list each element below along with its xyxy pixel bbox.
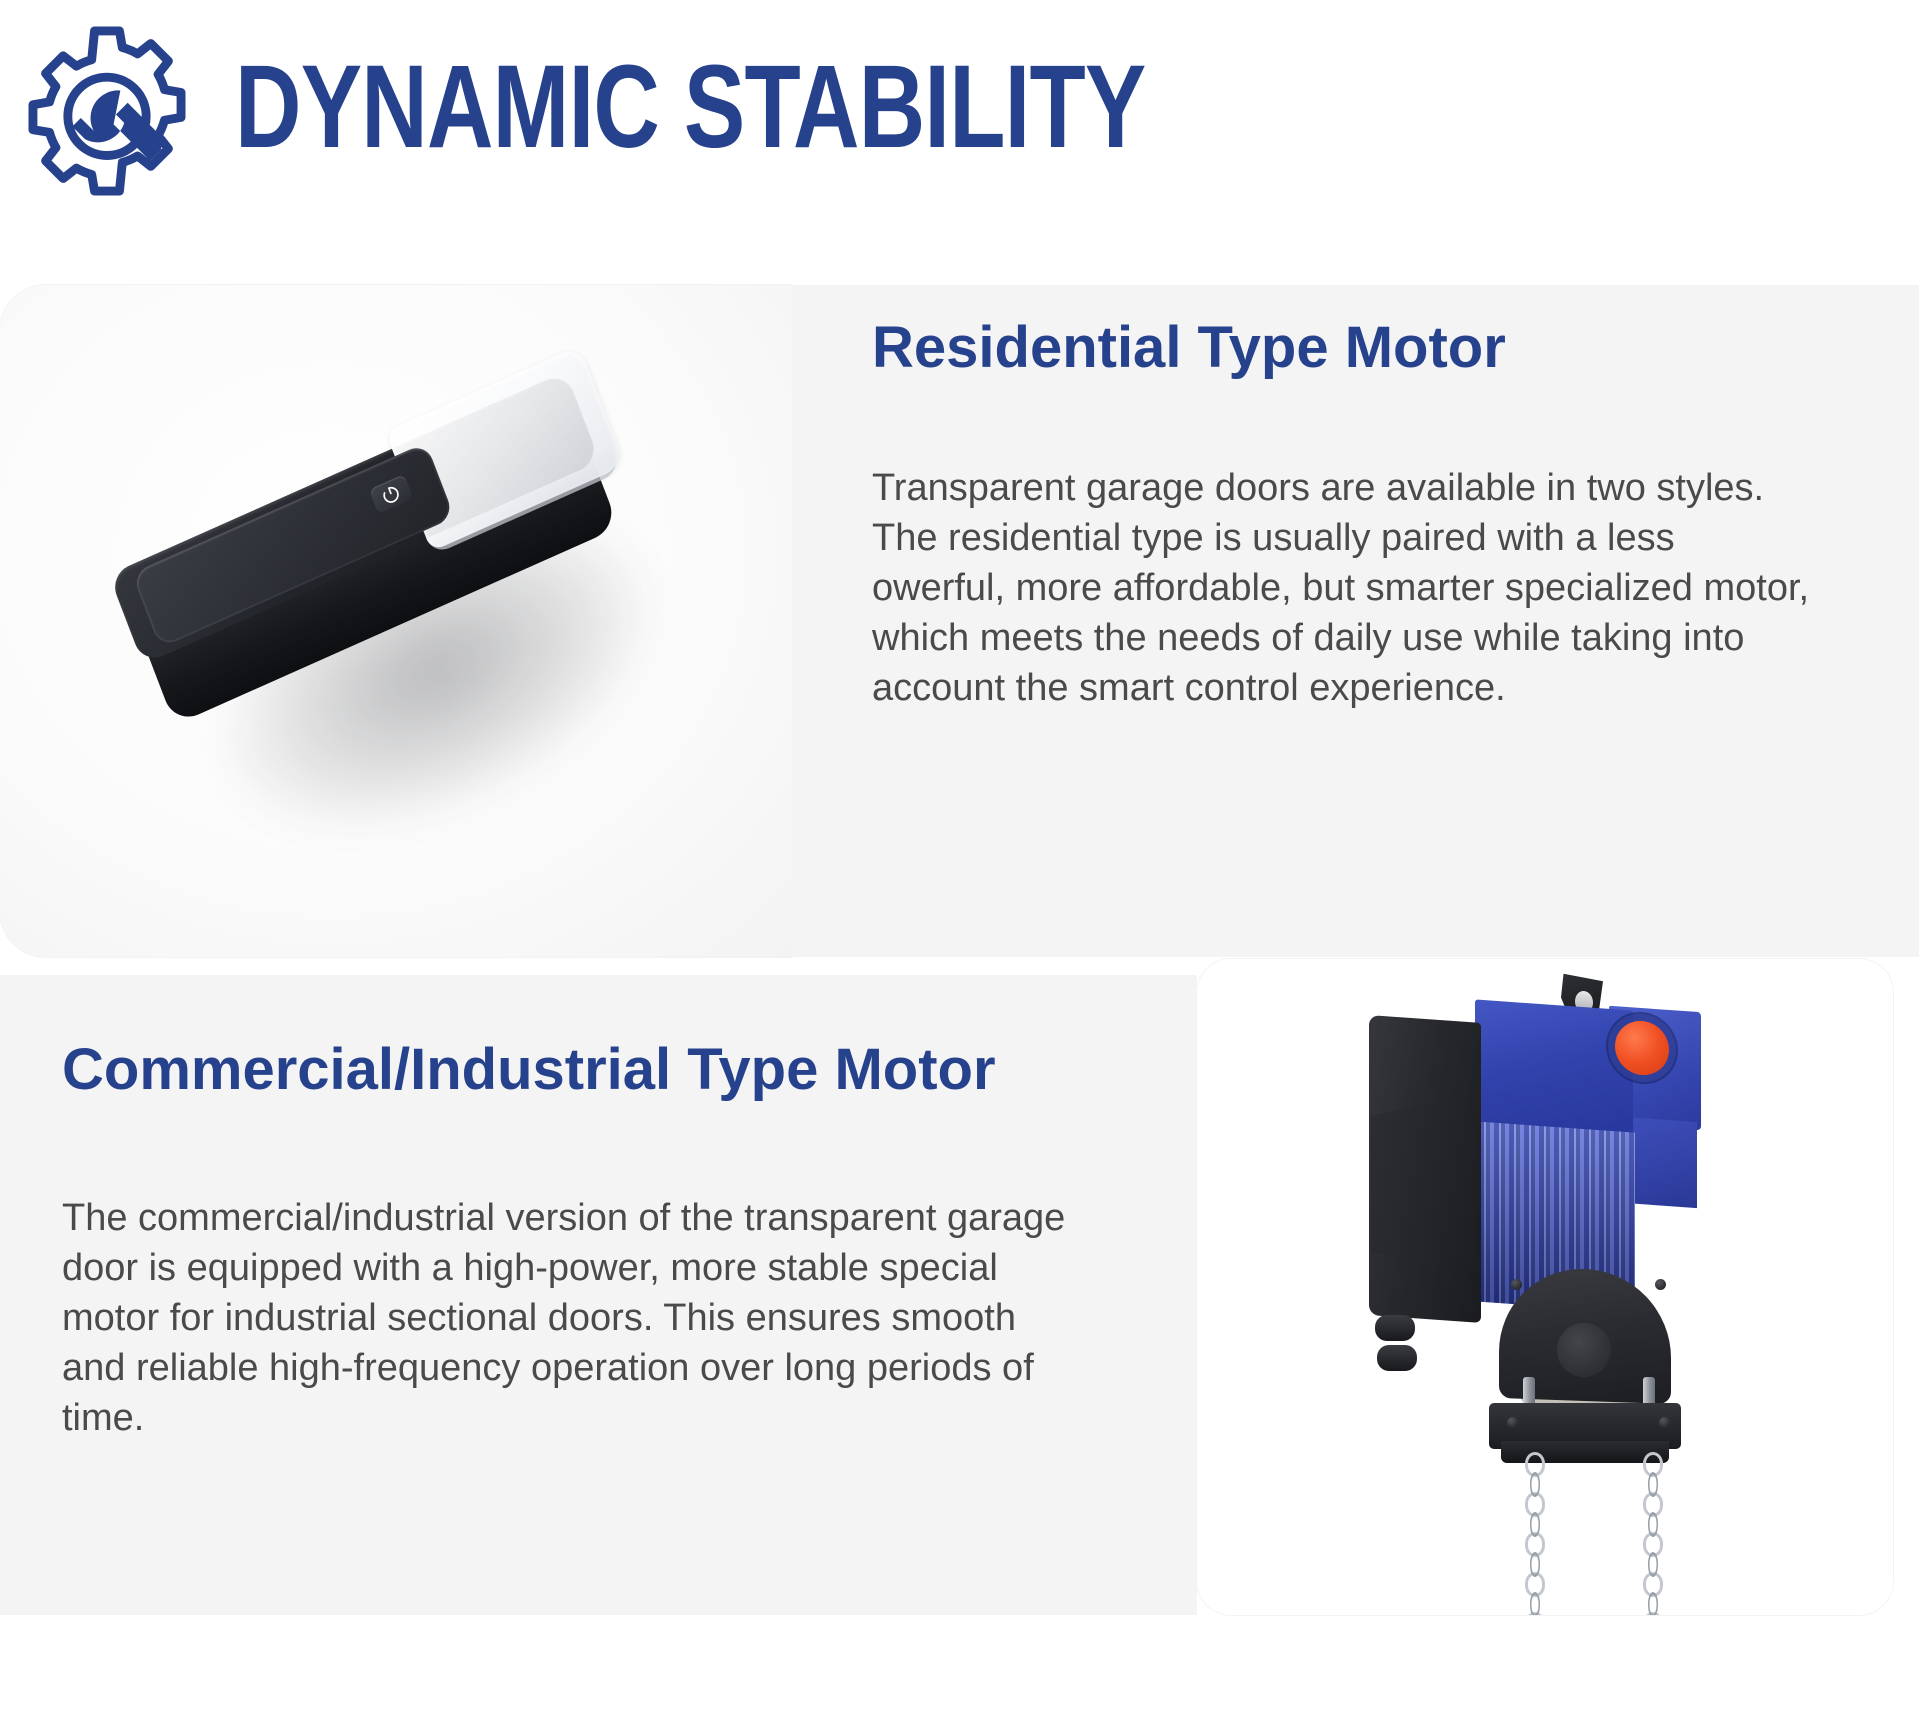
release-chain-left <box>1525 1457 1539 1615</box>
bracket-bolt-right <box>1659 1417 1670 1428</box>
page-title: DYNAMIC STABILITY <box>235 48 1146 166</box>
motor-gear-case-knob <box>1557 1323 1611 1377</box>
gear-wrench-icon <box>18 22 196 200</box>
commercial-text-panel: Commercial/Industrial Type Motor The com… <box>0 975 1197 1615</box>
commercial-heading: Commercial/Industrial Type Motor <box>62 1038 996 1102</box>
residential-body-text: Transparent garage doors are available i… <box>872 463 1812 713</box>
residential-motor-illustration <box>99 361 692 881</box>
residential-motor-photo <box>0 285 792 957</box>
motor-top-housing <box>1475 999 1633 1140</box>
residential-text-panel: Residential Type Motor Transparent garag… <box>792 285 1919 957</box>
gear-case-bolt-right <box>1655 1279 1666 1290</box>
cable-grommet-upper <box>1375 1315 1415 1341</box>
cable-grommet-lower <box>1377 1345 1417 1371</box>
industrial-motor-photo-card <box>1197 959 1893 1615</box>
residential-motor-photo-card <box>0 285 792 957</box>
gear-case-bolt-left <box>1511 1279 1522 1290</box>
section-residential: Residential Type Motor Transparent garag… <box>0 285 1919 957</box>
section-commercial-industrial: Commercial/Industrial Type Motor The com… <box>0 975 1919 1615</box>
page-header: DYNAMIC STABILITY <box>0 0 1919 232</box>
motor-control-box-face <box>1371 1093 1475 1260</box>
bracket-bolt-left <box>1507 1417 1518 1428</box>
industrial-motor-photo <box>1197 959 1893 1615</box>
release-chain-right <box>1643 1457 1657 1615</box>
commercial-body-text: The commercial/industrial version of the… <box>62 1193 1072 1443</box>
residential-heading: Residential Type Motor <box>872 317 1506 379</box>
industrial-motor-illustration <box>1347 979 1747 1589</box>
